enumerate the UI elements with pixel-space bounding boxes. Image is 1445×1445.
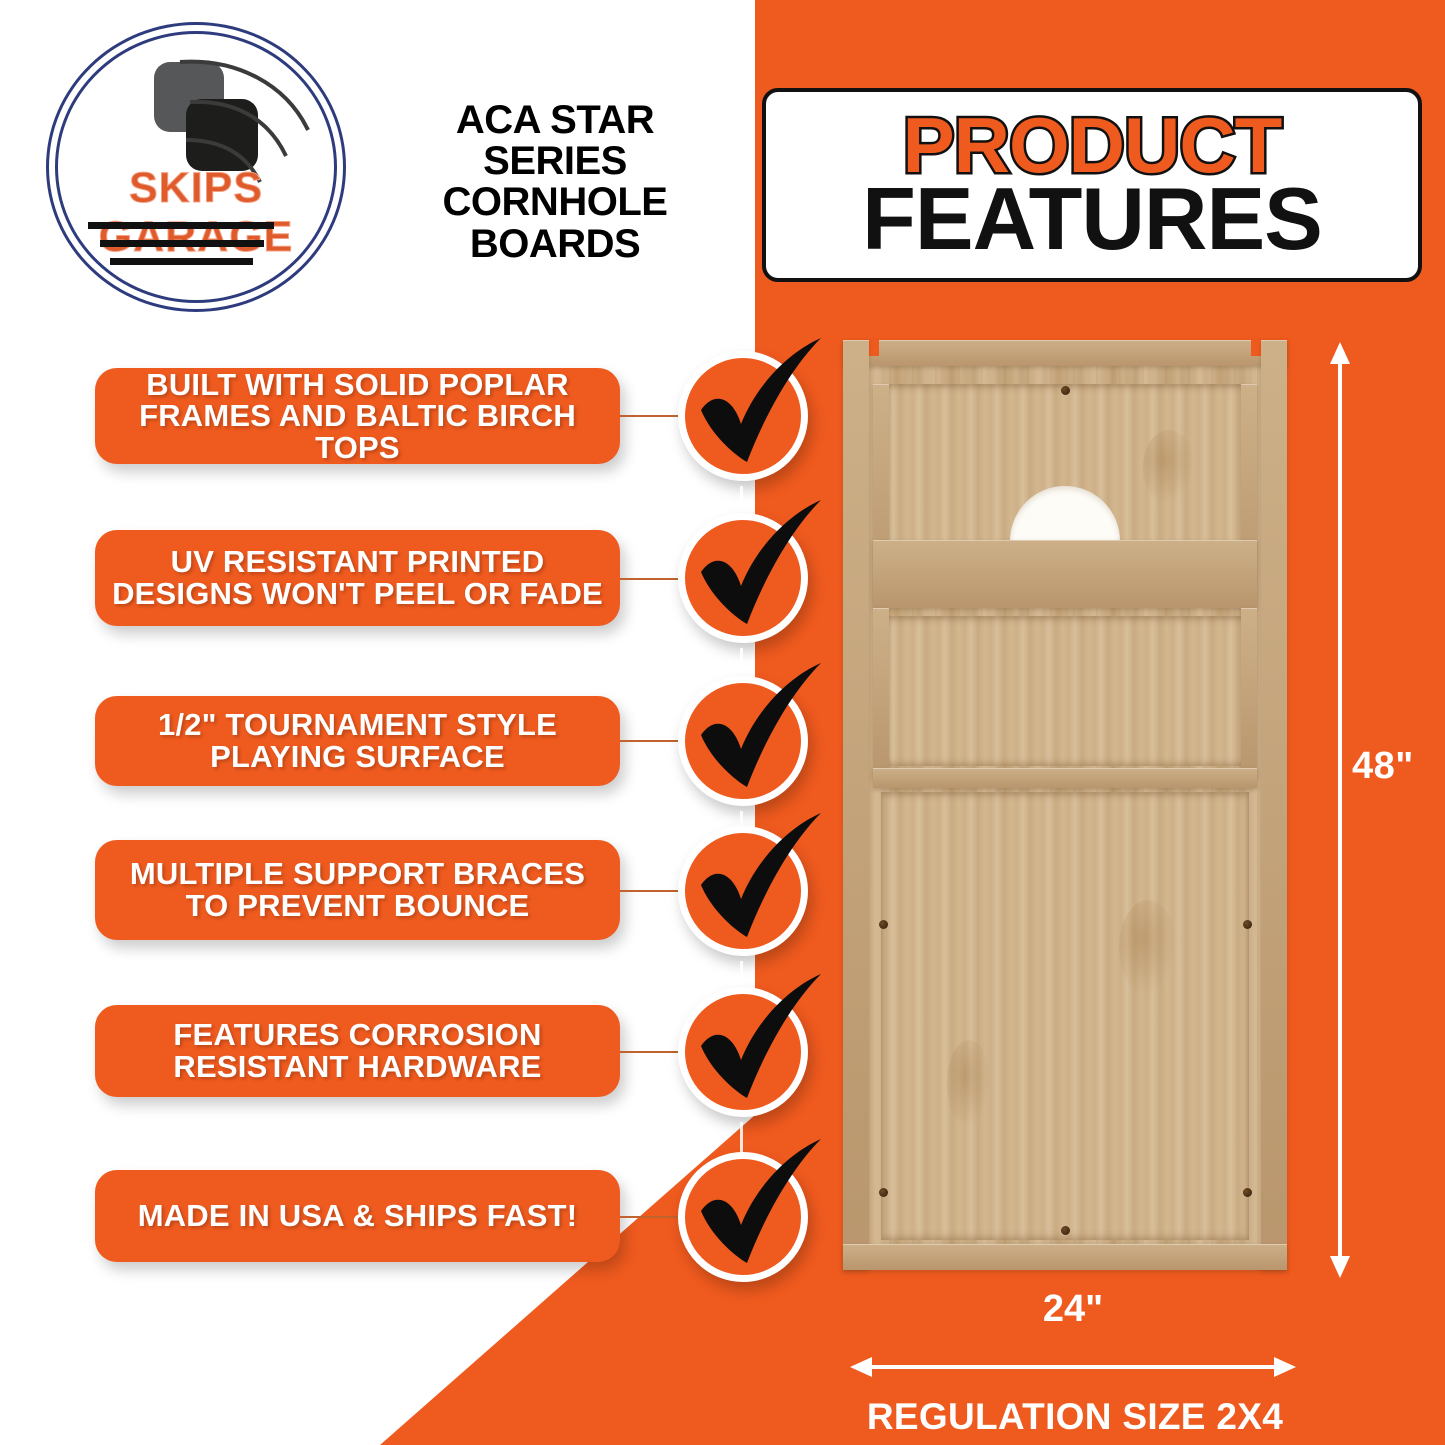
logo-rule-3 — [110, 258, 253, 265]
board-center-brace — [873, 540, 1257, 608]
feature-connector-1 — [620, 415, 678, 417]
logo-wordmark: SKIPS GARAGE — [36, 164, 356, 262]
checkmark-icon — [671, 968, 831, 1138]
feature-connector-3 — [620, 740, 678, 742]
checkmark-icon — [671, 657, 831, 827]
product-title: ACA STAR SERIES CORNHOLE BOARDS — [390, 100, 720, 265]
feature-check-3 — [678, 676, 808, 806]
board-right-rail — [1261, 340, 1287, 1270]
feature-pill-2: UV RESISTANT PRINTED DESIGNS WON'T PEEL … — [95, 530, 620, 626]
screw-top — [1061, 386, 1070, 395]
checkmark-icon — [671, 807, 831, 977]
product-title-line-3: CORNHOLE — [390, 182, 720, 223]
feature-connector-4 — [620, 890, 678, 892]
wood-knot-3 — [947, 1040, 991, 1128]
screw-left-bottom — [879, 1188, 888, 1197]
logo-rule-2 — [100, 240, 264, 247]
board-left-rail — [843, 340, 869, 1270]
feature-check-5 — [678, 987, 808, 1117]
product-title-line-1: ACA STAR — [390, 100, 720, 141]
infographic-canvas: SKIPS GARAGE ACA STAR SERIES CORNHOLE BO… — [0, 0, 1445, 1445]
board-stile-right-mid — [1241, 608, 1257, 778]
board-top-rail — [843, 340, 1287, 366]
brand-logo: SKIPS GARAGE — [36, 14, 356, 314]
product-title-line-4: BOARDS — [390, 224, 720, 265]
board-bottom-panel — [881, 792, 1249, 1240]
feature-connector-5 — [620, 1051, 678, 1053]
feature-pill-5: FEATURES CORROSION RESISTANT HARDWARE — [95, 1005, 620, 1097]
feature-pill-1: BUILT WITH SOLID POPLAR FRAMES AND BALTI… — [95, 368, 620, 464]
feature-check-2 — [678, 513, 808, 643]
board-lower-brace — [873, 768, 1257, 788]
height-dimension-label: 48" — [1352, 745, 1414, 788]
screw-right-lower — [1243, 920, 1252, 929]
wood-knot-2 — [1119, 900, 1177, 996]
screw-left-lower — [879, 920, 888, 929]
logo-rule-1 — [88, 222, 274, 229]
motion-arcs-icon — [176, 44, 336, 184]
badge-line-features: FEATURES — [862, 177, 1322, 261]
feature-pill-3: 1/2" TOURNAMENT STYLE PLAYING SURFACE — [95, 696, 620, 786]
screw-bottom-center — [1061, 1226, 1070, 1235]
board-stile-left-mid — [873, 608, 889, 778]
feature-pill-6: MADE IN USA & SHIPS FAST! — [95, 1170, 620, 1262]
feature-connector-6 — [620, 1216, 678, 1218]
screw-right-bottom — [1243, 1188, 1252, 1197]
feature-connector-2 — [620, 578, 678, 580]
feature-check-4 — [678, 826, 808, 956]
board-mid-panel — [881, 616, 1249, 766]
feature-check-1 — [678, 351, 808, 481]
regulation-size-note: REGULATION SIZE 2X4 — [790, 1396, 1360, 1438]
wood-knot-1 — [1143, 430, 1195, 504]
cornhole-board-image — [843, 340, 1287, 1270]
checkmark-icon — [671, 1133, 831, 1303]
product-features-badge: PRODUCT FEATURES — [762, 88, 1422, 282]
checkmark-icon — [671, 494, 831, 664]
feature-check-6 — [678, 1152, 808, 1282]
feature-pill-4: MULTIPLE SUPPORT BRACES TO PREVENT BOUNC… — [95, 840, 620, 940]
product-title-line-2: SERIES — [390, 141, 720, 182]
width-dimension-arrow — [848, 1352, 1298, 1382]
board-bottom-rail — [843, 1244, 1287, 1270]
height-dimension-arrow — [1326, 340, 1354, 1280]
width-dimension-label: 24" — [843, 1288, 1303, 1331]
checkmark-icon — [671, 332, 831, 502]
